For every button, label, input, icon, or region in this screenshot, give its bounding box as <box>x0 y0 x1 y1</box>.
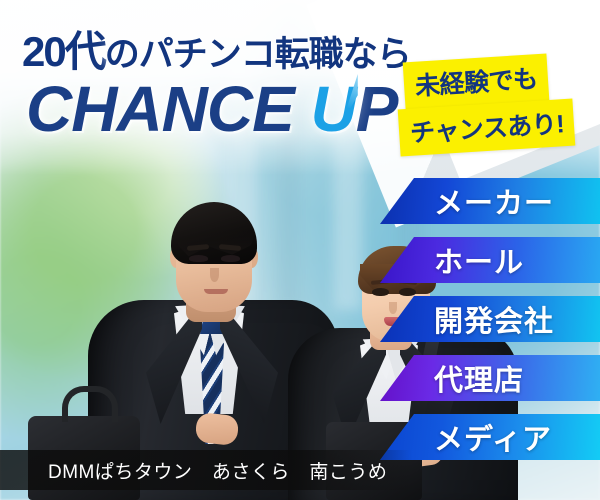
headline-rest: のパチンコ転職なら <box>105 35 411 74</box>
briefcase-left-handle <box>62 386 118 422</box>
advertisement-banner[interactable]: 20代のパチンコ転職なら CHANCE UP 未経験でも チャンスあり! メーカ… <box>0 0 600 500</box>
category-label-maker: メーカー <box>434 180 554 222</box>
male-hand <box>195 412 240 446</box>
category-button-maker[interactable]: メーカー <box>380 178 600 224</box>
page-title: 20代のパチンコ転職なら <box>22 18 411 79</box>
category-button-hall[interactable]: ホール <box>380 237 600 283</box>
male-eye-left <box>189 255 208 262</box>
category-label-hall: ホール <box>434 239 524 281</box>
logo-accent-u: U <box>311 72 356 146</box>
category-button-development[interactable]: 開発会社 <box>380 296 600 342</box>
category-label-agency: 代理店 <box>434 357 524 399</box>
category-button-list: メーカー ホール 開発会社 代理店 メディア <box>380 178 600 473</box>
category-button-media[interactable]: メディア <box>380 414 600 460</box>
credit-text: DMMぱちタウン あさくら 南こうめ <box>0 457 387 484</box>
male-eye-right <box>221 255 240 262</box>
category-button-agency[interactable]: 代理店 <box>380 355 600 401</box>
male-mouth <box>204 289 228 294</box>
headline-lead: 20代 <box>22 28 105 75</box>
male-nose <box>210 268 219 282</box>
category-label-media: メディア <box>434 416 552 458</box>
logo-main-text: CHANCE <box>26 73 311 145</box>
category-label-development: 開発会社 <box>434 298 554 340</box>
credit-bar: DMMぱちタウン あさくら 南こうめ <box>0 450 412 490</box>
logo-accent-p: P <box>356 73 398 145</box>
logo-chance-up: CHANCE UP <box>26 72 397 146</box>
